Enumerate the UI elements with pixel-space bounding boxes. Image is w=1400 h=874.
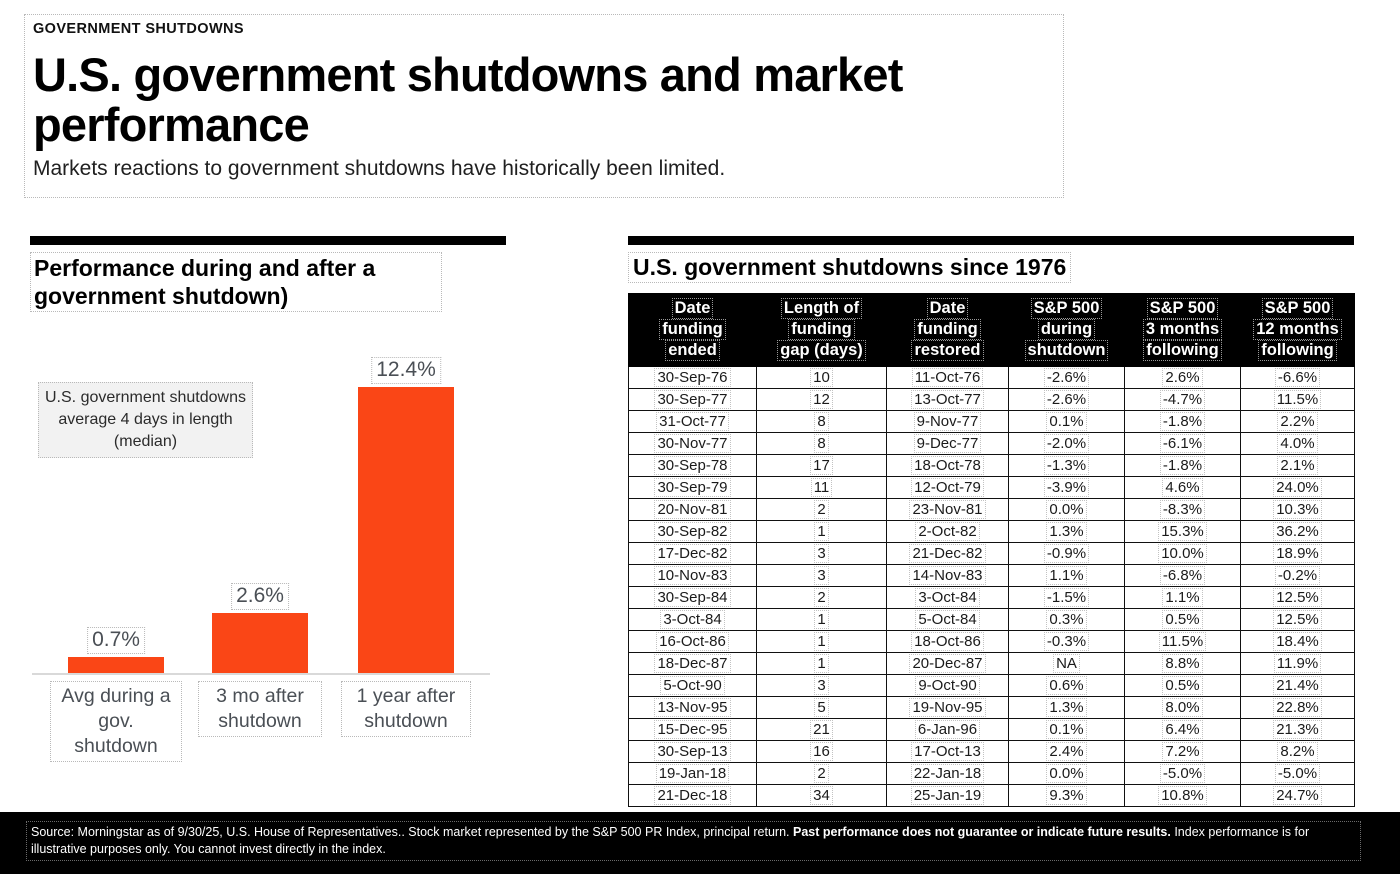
table-cell-text: 4.0% <box>1277 434 1317 453</box>
category-label: Avg during a gov. shutdown <box>50 681 182 762</box>
table-cell-text: 23-Nov-81 <box>909 500 985 519</box>
table-cell-text: 21-Dec-82 <box>909 544 985 563</box>
table-column-header-line: gap (days) <box>777 340 866 361</box>
table-cell-text: 0.6% <box>1046 676 1086 695</box>
table-cell-text: 1.1% <box>1162 588 1202 607</box>
table-cell: 21-Dec-82 <box>887 543 1009 565</box>
table-cell-text: 9-Dec-77 <box>914 434 982 453</box>
table-column-header: S&P 500duringshutdown <box>1009 294 1125 367</box>
table-cell-text: 0.0% <box>1046 764 1086 783</box>
table-cell: -3.9% <box>1009 477 1125 499</box>
table-cell-text: 0.0% <box>1046 500 1086 519</box>
table-cell-text: 0.5% <box>1162 676 1202 695</box>
table-cell: 17-Dec-82 <box>629 543 757 565</box>
table-cell-text: 19-Jan-18 <box>656 764 730 783</box>
table-cell: 19-Nov-95 <box>887 697 1009 719</box>
source-text-bold: Past performance does not guarantee or i… <box>793 825 1171 839</box>
eyebrow-label: GOVERNMENT SHUTDOWNS <box>33 21 1055 38</box>
table-cell-text: 3 <box>814 566 828 585</box>
table-cell-text: 10-Nov-83 <box>654 566 730 585</box>
table-column-header-line: funding <box>914 319 980 340</box>
table-cell-text: 21.3% <box>1273 720 1322 739</box>
table-row: 31-Oct-7789-Nov-770.1%-1.8%2.2% <box>629 411 1355 433</box>
table-cell-text: 2.1% <box>1277 456 1317 475</box>
table-column-header: S&P 50012 monthsfollowing <box>1241 294 1355 367</box>
table-cell-text: -6.1% <box>1160 434 1205 453</box>
table-row: 10-Nov-83314-Nov-831.1%-6.8%-0.2% <box>629 565 1355 587</box>
table-cell-text: 2.4% <box>1046 742 1086 761</box>
table-cell-text: 21 <box>810 720 833 739</box>
table-cell: 1.3% <box>1009 697 1125 719</box>
table-cell-text: -2.0% <box>1044 434 1089 453</box>
table-cell-text: 1 <box>814 522 828 541</box>
infographic-page: GOVERNMENT SHUTDOWNS U.S. government shu… <box>0 0 1400 874</box>
table-cell-text: -2.6% <box>1044 368 1089 387</box>
table-row: 30-Sep-8423-Oct-84-1.5%1.1%12.5% <box>629 587 1355 609</box>
table-body: 30-Sep-761011-Oct-76-2.6%2.6%-6.6%30-Sep… <box>629 367 1355 807</box>
table-cell: 0.0% <box>1009 763 1125 785</box>
table-cell-text: 25-Jan-19 <box>911 786 985 805</box>
table-cell-text: 18-Dec-87 <box>654 654 730 673</box>
table-cell: 1.1% <box>1009 565 1125 587</box>
table-cell: 16-Oct-86 <box>629 631 757 653</box>
table-column-header-line: S&P 500 <box>1031 298 1103 319</box>
table-cell: 12.5% <box>1241 587 1355 609</box>
table-cell: 2.6% <box>1125 367 1241 389</box>
table-cell-text: 6-Jan-96 <box>915 720 980 739</box>
table-cell: 24.7% <box>1241 785 1355 807</box>
table-row: 30-Sep-781718-Oct-78-1.3%-1.8%2.1% <box>629 455 1355 477</box>
table-cell-text: 11.5% <box>1274 390 1321 409</box>
table-cell: 18.9% <box>1241 543 1355 565</box>
table-cell: 0.3% <box>1009 609 1125 631</box>
table-cell-text: 17 <box>810 456 833 475</box>
table-header-row: DatefundingendedLength offundinggap (day… <box>629 294 1355 367</box>
table-row: 19-Jan-18222-Jan-180.0%-5.0%-5.0% <box>629 763 1355 785</box>
table-cell-text: 7.2% <box>1162 742 1202 761</box>
category-label: 1 year after shutdown <box>341 681 471 737</box>
table-column-header-line: shutdown <box>1025 340 1109 361</box>
table-cell: 17-Oct-13 <box>887 741 1009 763</box>
table-cell-text: 22.8% <box>1273 698 1322 717</box>
table-cell: -1.3% <box>1009 455 1125 477</box>
table-cell: 3-Oct-84 <box>629 609 757 631</box>
table-cell-text: 20-Nov-81 <box>654 500 730 519</box>
table-cell-text: 9.3% <box>1046 786 1086 805</box>
page-subtitle: Markets reactions to government shutdown… <box>33 156 1055 182</box>
table-cell: 11 <box>757 477 887 499</box>
table-cell: 8.0% <box>1125 697 1241 719</box>
table-cell-text: -0.3% <box>1044 632 1089 651</box>
shutdowns-table: DatefundingendedLength offundinggap (day… <box>628 293 1355 807</box>
table-cell: 0.0% <box>1009 499 1125 521</box>
table-cell-text: 9-Oct-90 <box>915 676 979 695</box>
table-column-header-line: ended <box>665 340 720 361</box>
table-cell: 1 <box>757 609 887 631</box>
table-cell: -6.6% <box>1241 367 1355 389</box>
table-cell-text: 18-Oct-78 <box>911 456 984 475</box>
bar-chart-panel: Performance during and after a governmen… <box>30 252 520 792</box>
table-cell: 5-Oct-84 <box>887 609 1009 631</box>
table-cell: 10-Nov-83 <box>629 565 757 587</box>
table-cell: 8.8% <box>1125 653 1241 675</box>
table-cell: 11.5% <box>1241 389 1355 411</box>
table-cell: 31-Oct-77 <box>629 411 757 433</box>
table-column-header-line: Date <box>927 298 969 319</box>
table-cell-text: 5-Oct-90 <box>660 676 724 695</box>
table-cell: 21.3% <box>1241 719 1355 741</box>
table-cell-text: 2 <box>814 764 828 783</box>
table-cell: 16 <box>757 741 887 763</box>
table-cell: 18-Dec-87 <box>629 653 757 675</box>
table-cell-text: 3 <box>814 676 828 695</box>
table-cell-text: -2.6% <box>1044 390 1089 409</box>
table-cell: 12.5% <box>1241 609 1355 631</box>
table-cell: 1.1% <box>1125 587 1241 609</box>
table-cell: 9-Nov-77 <box>887 411 1009 433</box>
table-cell-text: 3-Oct-84 <box>915 588 979 607</box>
table-cell: -5.0% <box>1125 763 1241 785</box>
table-cell-text: 12-Oct-79 <box>911 478 984 497</box>
table-cell-text: 30-Nov-77 <box>654 434 730 453</box>
table-cell-text: 2.2% <box>1277 412 1317 431</box>
table-row: 13-Nov-95519-Nov-951.3%8.0%22.8% <box>629 697 1355 719</box>
table-cell: 17 <box>757 455 887 477</box>
table-cell: 19-Jan-18 <box>629 763 757 785</box>
table-cell-text: 30-Sep-79 <box>654 478 730 497</box>
bar-value-label: 0.7% <box>87 627 145 654</box>
table-cell: 11-Oct-76 <box>887 367 1009 389</box>
left-panel-rule <box>30 236 506 245</box>
table-cell: 18.4% <box>1241 631 1355 653</box>
table-row: 30-Sep-761011-Oct-76-2.6%2.6%-6.6% <box>629 367 1355 389</box>
table-cell: -1.8% <box>1125 455 1241 477</box>
table-cell: -6.8% <box>1125 565 1241 587</box>
table-cell: 30-Sep-76 <box>629 367 757 389</box>
table-cell-text: -6.6% <box>1275 368 1320 387</box>
table-cell: 11.9% <box>1241 653 1355 675</box>
table-cell: 9.3% <box>1009 785 1125 807</box>
table-cell-text: -0.9% <box>1044 544 1089 563</box>
table-cell: -5.0% <box>1241 763 1355 785</box>
table-cell-text: 24.0% <box>1273 478 1322 497</box>
table-cell: -4.7% <box>1125 389 1241 411</box>
table-column-header: Length offundinggap (days) <box>757 294 887 367</box>
table-cell-text: 10.3% <box>1273 500 1322 519</box>
table-column-header-line: Date <box>672 298 714 319</box>
table-cell: 0.1% <box>1009 411 1125 433</box>
table-cell-text: 10 <box>810 368 833 387</box>
table-row: 30-Sep-791112-Oct-79-3.9%4.6%24.0% <box>629 477 1355 499</box>
table-cell-text: -4.7% <box>1160 390 1205 409</box>
table-cell-text: 24.7% <box>1273 786 1322 805</box>
table-cell: 30-Sep-78 <box>629 455 757 477</box>
table-cell-text: 17-Dec-82 <box>654 544 730 563</box>
table-column-header-line: S&P 500 <box>1262 298 1334 319</box>
table-cell: 30-Sep-13 <box>629 741 757 763</box>
table-cell-text: 0.5% <box>1162 610 1202 629</box>
table-cell: -2.0% <box>1009 433 1125 455</box>
table-row: 30-Sep-8212-Oct-821.3%15.3%36.2% <box>629 521 1355 543</box>
table-cell-text: 14-Nov-83 <box>909 566 985 585</box>
table-cell: -6.1% <box>1125 433 1241 455</box>
table-cell-text: 1.3% <box>1046 522 1086 541</box>
table-cell-text: 8.0% <box>1162 698 1202 717</box>
table-cell-text: 8 <box>814 434 828 453</box>
table-cell-text: 3 <box>814 544 828 563</box>
table-cell: 22-Jan-18 <box>887 763 1009 785</box>
bar-value-label: 2.6% <box>231 583 289 610</box>
table-cell: 3 <box>757 543 887 565</box>
table-cell: 21.4% <box>1241 675 1355 697</box>
table-cell-text: 22-Jan-18 <box>911 764 985 783</box>
table-cell: 4.0% <box>1241 433 1355 455</box>
table-cell: 8 <box>757 433 887 455</box>
table-title: U.S. government shutdowns since 1976 <box>628 252 1071 283</box>
table-cell-text: 16-Oct-86 <box>656 632 729 651</box>
table-column-header-line: following <box>1258 340 1336 361</box>
table-cell: 12-Oct-79 <box>887 477 1009 499</box>
table-cell-text: -3.9% <box>1044 478 1089 497</box>
table-cell-text: 13-Nov-95 <box>654 698 730 717</box>
table-cell: 12 <box>757 389 887 411</box>
table-cell: 34 <box>757 785 887 807</box>
table-row: 30-Nov-7789-Dec-77-2.0%-6.1%4.0% <box>629 433 1355 455</box>
table-cell-text: -1.5% <box>1044 588 1089 607</box>
table-panel: U.S. government shutdowns since 1976 Dat… <box>628 252 1354 807</box>
footer-band: Source: Morningstar as of 9/30/25, U.S. … <box>0 812 1400 874</box>
table-cell: 6.4% <box>1125 719 1241 741</box>
table-cell: 4.6% <box>1125 477 1241 499</box>
table-cell-text: 36.2% <box>1273 522 1322 541</box>
table-cell-text: 1.3% <box>1046 698 1086 717</box>
table-cell: 6-Jan-96 <box>887 719 1009 741</box>
table-cell-text: 0.3% <box>1046 610 1086 629</box>
table-cell-text: -1.3% <box>1044 456 1089 475</box>
table-cell-text: 30-Sep-77 <box>654 390 730 409</box>
table-cell-text: 0.1% <box>1046 720 1086 739</box>
table-row: 17-Dec-82321-Dec-82-0.9%10.0%18.9% <box>629 543 1355 565</box>
table-cell: 30-Nov-77 <box>629 433 757 455</box>
table-cell: 2.4% <box>1009 741 1125 763</box>
table-cell: 2.2% <box>1241 411 1355 433</box>
table-cell-text: 30-Sep-76 <box>654 368 730 387</box>
header-block: GOVERNMENT SHUTDOWNS U.S. government shu… <box>24 14 1064 198</box>
table-cell-text: 18.4% <box>1273 632 1322 651</box>
table-cell: 1.3% <box>1009 521 1125 543</box>
table-cell: 36.2% <box>1241 521 1355 543</box>
table-cell: 3 <box>757 565 887 587</box>
table-row: 30-Sep-131617-Oct-132.4%7.2%8.2% <box>629 741 1355 763</box>
table-cell: 25-Jan-19 <box>887 785 1009 807</box>
table-cell-text: 1 <box>814 610 828 629</box>
table-column-header-line: following <box>1143 340 1221 361</box>
table-cell-text: NA <box>1053 654 1080 673</box>
table-cell-text: 18.9% <box>1273 544 1322 563</box>
table-column-header-line: funding <box>788 319 854 340</box>
table-cell: 30-Sep-82 <box>629 521 757 543</box>
table-cell: 20-Nov-81 <box>629 499 757 521</box>
table-row: 5-Oct-9039-Oct-900.6%0.5%21.4% <box>629 675 1355 697</box>
table-cell: 11.5% <box>1125 631 1241 653</box>
table-cell-text: 11-Oct-76 <box>912 368 984 387</box>
table-cell-text: -5.0% <box>1275 764 1320 783</box>
table-cell-text: 9-Nov-77 <box>914 412 982 431</box>
table-cell: -8.3% <box>1125 499 1241 521</box>
table-column-header: Datefundingended <box>629 294 757 367</box>
table-cell: -0.2% <box>1241 565 1355 587</box>
table-cell-text: 31-Oct-77 <box>656 412 729 431</box>
table-cell-text: 15.3% <box>1158 522 1207 541</box>
table-cell-text: 8 <box>814 412 828 431</box>
table-cell-text: 5-Oct-84 <box>915 610 979 629</box>
table-column-header-line: 12 months <box>1253 319 1342 340</box>
table-cell: 30-Sep-79 <box>629 477 757 499</box>
table-cell: 3 <box>757 675 887 697</box>
chart-title: Performance during and after a governmen… <box>30 252 442 312</box>
table-cell-text: 8.2% <box>1277 742 1317 761</box>
table-cell: 0.1% <box>1009 719 1125 741</box>
table-cell: 13-Nov-95 <box>629 697 757 719</box>
table-column-header: S&P 5003 monthsfollowing <box>1125 294 1241 367</box>
table-cell-text: 19-Nov-95 <box>909 698 985 717</box>
chart-baseline <box>32 673 490 675</box>
table-cell: 8 <box>757 411 887 433</box>
table-cell-text: 1 <box>814 654 828 673</box>
table-cell-text: 0.1% <box>1046 412 1086 431</box>
table-cell-text: 15-Dec-95 <box>654 720 730 739</box>
table-cell-text: 11.5% <box>1159 632 1206 651</box>
table-cell: -2.6% <box>1009 367 1125 389</box>
table-cell: 22.8% <box>1241 697 1355 719</box>
table-cell-text: 12 <box>810 390 833 409</box>
table-cell-text: 12.5% <box>1273 588 1322 607</box>
table-cell-text: -6.8% <box>1160 566 1205 585</box>
table-cell-text: 10.8% <box>1158 786 1207 805</box>
table-cell-text: 34 <box>810 786 833 805</box>
table-cell: 30-Sep-84 <box>629 587 757 609</box>
table-cell: 30-Sep-77 <box>629 389 757 411</box>
table-cell: 10.3% <box>1241 499 1355 521</box>
table-cell: 21 <box>757 719 887 741</box>
bar-avg-during-shutdown <box>68 657 164 673</box>
table-column-header-line: 3 months <box>1143 319 1222 340</box>
table-cell: 2 <box>757 499 887 521</box>
table-cell: 7.2% <box>1125 741 1241 763</box>
table-cell: 0.6% <box>1009 675 1125 697</box>
table-cell-text: 16 <box>810 742 833 761</box>
table-cell: 1 <box>757 521 887 543</box>
table-cell-text: 30-Sep-84 <box>654 588 730 607</box>
table-cell-text: 2.6% <box>1162 368 1202 387</box>
table-cell-text: -1.8% <box>1160 412 1205 431</box>
table-cell: 10.8% <box>1125 785 1241 807</box>
table-cell-text: 30-Sep-78 <box>654 456 730 475</box>
table-cell: 8.2% <box>1241 741 1355 763</box>
table-cell: 10.0% <box>1125 543 1241 565</box>
table-cell: 23-Nov-81 <box>887 499 1009 521</box>
table-cell-text: 20-Dec-87 <box>909 654 985 673</box>
table-cell: 9-Dec-77 <box>887 433 1009 455</box>
table-cell-text: 3-Oct-84 <box>660 610 724 629</box>
table-cell-text: 13-Oct-77 <box>911 390 984 409</box>
table-cell: 18-Oct-78 <box>887 455 1009 477</box>
table-cell: 20-Dec-87 <box>887 653 1009 675</box>
table-cell: 2.1% <box>1241 455 1355 477</box>
table-cell: 0.5% <box>1125 609 1241 631</box>
table-cell-text: -1.8% <box>1160 456 1205 475</box>
table-column-header-line: restored <box>911 340 983 361</box>
table-cell: 1 <box>757 653 887 675</box>
chart-plot-area: 0.7% 2.6% 12.4% Avg during a gov. shutdo… <box>30 344 490 784</box>
table-cell: 5-Oct-90 <box>629 675 757 697</box>
page-title: U.S. government shutdowns and market per… <box>33 50 1055 150</box>
source-note: Source: Morningstar as of 9/30/25, U.S. … <box>26 821 1361 861</box>
table-cell: NA <box>1009 653 1125 675</box>
table-column-header: Datefundingrestored <box>887 294 1009 367</box>
table-column-header-line: Length of <box>781 298 862 319</box>
table-cell-text: 8.8% <box>1162 654 1202 673</box>
table-cell-text: -8.3% <box>1160 500 1205 519</box>
table-cell: 21-Dec-18 <box>629 785 757 807</box>
table-row: 3-Oct-8415-Oct-840.3%0.5%12.5% <box>629 609 1355 631</box>
table-cell: 5 <box>757 697 887 719</box>
table-column-header-line: funding <box>659 319 725 340</box>
table-cell-text: 12.5% <box>1273 610 1322 629</box>
table-row: 21-Dec-183425-Jan-199.3%10.8%24.7% <box>629 785 1355 807</box>
table-cell: 15-Dec-95 <box>629 719 757 741</box>
table-cell: -2.6% <box>1009 389 1125 411</box>
table-row: 18-Dec-87120-Dec-87NA8.8%11.9% <box>629 653 1355 675</box>
table-cell-text: 17-Oct-13 <box>911 742 984 761</box>
table-cell: 9-Oct-90 <box>887 675 1009 697</box>
table-cell: 2 <box>757 763 887 785</box>
table-cell-text: 10.0% <box>1158 544 1207 563</box>
table-cell-text: -5.0% <box>1160 764 1205 783</box>
table-cell-text: 1 <box>814 632 828 651</box>
table-cell-text: 2 <box>814 500 828 519</box>
table-cell: 13-Oct-77 <box>887 389 1009 411</box>
table-cell-text: 6.4% <box>1162 720 1202 739</box>
table-row: 16-Oct-86118-Oct-86-0.3%11.5%18.4% <box>629 631 1355 653</box>
table-cell: 15.3% <box>1125 521 1241 543</box>
table-cell-text: 5 <box>814 698 828 717</box>
table-cell: -1.8% <box>1125 411 1241 433</box>
table-cell: -0.3% <box>1009 631 1125 653</box>
table-cell-text: 2 <box>814 588 828 607</box>
table-cell-text: 4.6% <box>1162 478 1202 497</box>
table-cell: 2-Oct-82 <box>887 521 1009 543</box>
table-cell: 24.0% <box>1241 477 1355 499</box>
table-cell: -1.5% <box>1009 587 1125 609</box>
right-panel-rule <box>628 236 1354 245</box>
table-column-header-line: during <box>1038 319 1095 340</box>
table-row: 20-Nov-81223-Nov-810.0%-8.3%10.3% <box>629 499 1355 521</box>
table-cell: 3-Oct-84 <box>887 587 1009 609</box>
table-cell: 10 <box>757 367 887 389</box>
table-row: 15-Dec-95216-Jan-960.1%6.4%21.3% <box>629 719 1355 741</box>
table-row: 30-Sep-771213-Oct-77-2.6%-4.7%11.5% <box>629 389 1355 411</box>
table-cell: 1 <box>757 631 887 653</box>
table-column-header-line: S&P 500 <box>1147 298 1219 319</box>
table-cell: 0.5% <box>1125 675 1241 697</box>
table-cell: 2 <box>757 587 887 609</box>
bar-3mo-after-shutdown <box>212 613 308 673</box>
category-label: 3 mo after shutdown <box>198 681 322 737</box>
table-cell-text: 1.1% <box>1046 566 1086 585</box>
table-cell-text: 21-Dec-18 <box>654 786 730 805</box>
table-cell-text: 30-Sep-13 <box>654 742 730 761</box>
